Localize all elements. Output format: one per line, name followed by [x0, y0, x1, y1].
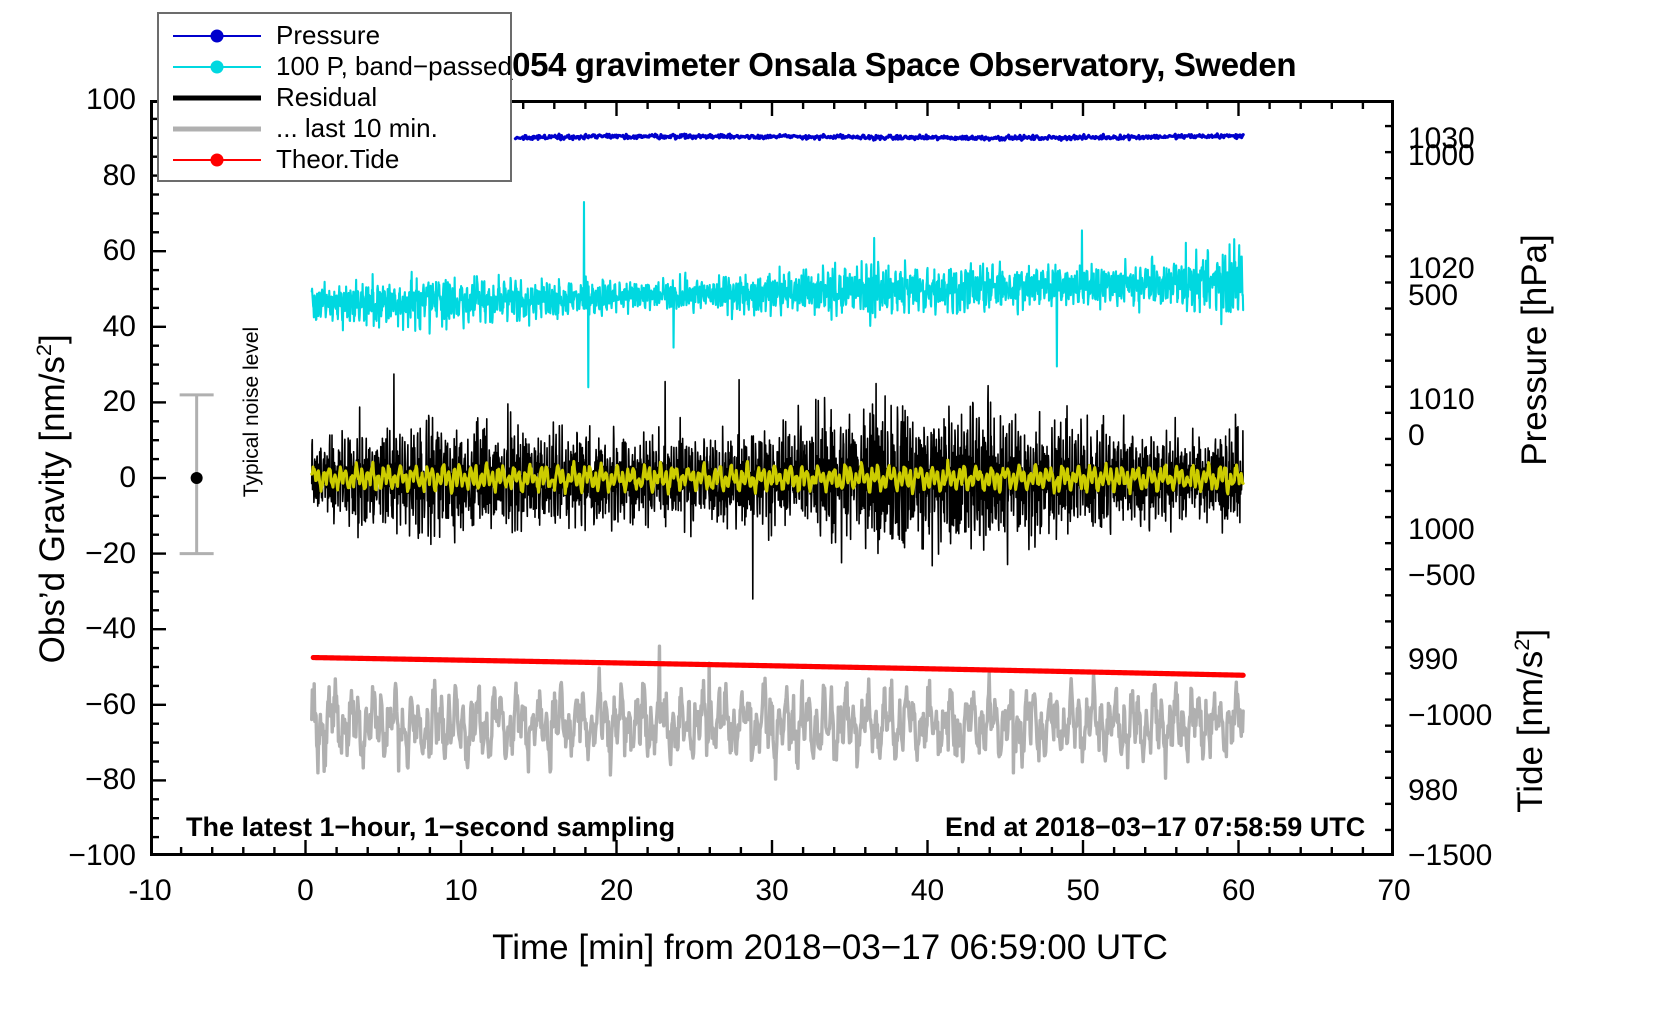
legend: Pressure100 P, band−passedResidual... la…	[157, 12, 512, 182]
y-tick-left-8: −60	[85, 690, 136, 720]
y-tick-left-3: 40	[103, 312, 136, 342]
y-tick-tide-0: 1000	[1408, 141, 1475, 171]
y-axis-left-title: Obs’d Gravity [nm/s2]	[31, 219, 73, 779]
legend-label-3: ... last 10 min.	[261, 113, 438, 144]
legend-line-icon	[173, 95, 261, 100]
y-tick-left-0: 100	[86, 85, 136, 115]
x-tick-5: 40	[911, 876, 944, 906]
legend-swatch-3	[173, 119, 261, 139]
y-tick-left-9: −80	[85, 765, 136, 795]
legend-marker-dot-icon	[211, 60, 224, 73]
y-tick-pressure-3: 1000	[1408, 515, 1475, 545]
y-axis-left-title-sup: 2	[31, 344, 56, 356]
legend-item-0[interactable]: Pressure	[159, 20, 510, 51]
x-axis-labels: -10010203040506070	[0, 876, 1660, 926]
legend-swatch-4	[173, 150, 261, 170]
y-axis-tide-title: Tide [nm/s2]	[1509, 521, 1551, 921]
y-tick-tide-3: −500	[1408, 561, 1476, 591]
noise-level-caption: Typical noise level	[240, 312, 264, 512]
series-pressure	[515, 134, 1243, 140]
y-tick-pressure-2: 1010	[1408, 385, 1475, 415]
y-tick-left-7: −40	[85, 614, 136, 644]
x-tick-6: 50	[1066, 876, 1099, 906]
legend-label-1: 100 P, band−passed	[261, 51, 512, 82]
note-sampling: The latest 1−hour, 1−second sampling	[186, 812, 675, 843]
y-tick-left-5: 0	[119, 463, 136, 493]
legend-swatch-2	[173, 88, 261, 108]
noise-bar-center-dot	[191, 472, 203, 484]
legend-label-2: Residual	[261, 82, 377, 113]
legend-item-4[interactable]: Theor.Tide	[159, 144, 510, 175]
legend-item-1[interactable]: 100 P, band−passed	[159, 51, 510, 82]
y-tick-left-2: 60	[103, 236, 136, 266]
y-axis-tide-title-tail: ]	[1511, 629, 1550, 639]
y-tick-pressure-4: 990	[1408, 645, 1458, 675]
legend-marker-dot-icon	[211, 153, 224, 166]
legend-item-2[interactable]: Residual	[159, 82, 510, 113]
legend-label-4: Theor.Tide	[261, 144, 399, 175]
y-tick-tide-5: −1500	[1408, 841, 1492, 871]
series-bandpassed	[312, 202, 1243, 387]
legend-label-0: Pressure	[261, 20, 380, 51]
plot-canvas	[150, 100, 1394, 856]
y-axis-left-title-tail: ]	[33, 334, 72, 344]
legend-marker-dot-icon	[211, 29, 224, 42]
y-axis-left-title-text: Obs’d Gravity [nm/s	[33, 356, 72, 663]
y-axis-tide-title-text: Tide [nm/s	[1511, 651, 1550, 813]
gravimeter-figure: SCG_054 gravimeter Onsala Space Observat…	[0, 0, 1660, 1020]
y-tick-left-10: −100	[68, 841, 136, 871]
note-end-time: End at 2018−03−17 07:58:59 UTC	[945, 812, 1365, 843]
x-tick-2: 10	[444, 876, 477, 906]
y-tick-tide-4: −1000	[1408, 701, 1492, 731]
x-tick-0: -10	[128, 876, 171, 906]
y-tick-left-4: 20	[103, 387, 136, 417]
y-axis-tide-title-sup: 2	[1509, 639, 1534, 651]
y-axis-pressure-title: Pressure [hPa]	[1515, 115, 1555, 585]
x-axis-title: Time [min] from 2018−03−17 06:59:00 UTC	[0, 928, 1660, 968]
x-tick-7: 60	[1222, 876, 1255, 906]
y-tick-tide-1: 500	[1408, 281, 1458, 311]
y-tick-pressure-5: 980	[1408, 776, 1458, 806]
legend-item-3[interactable]: ... last 10 min.	[159, 113, 510, 144]
legend-swatch-0	[173, 26, 261, 46]
series-theoretical-tide	[313, 658, 1243, 676]
y-tick-left-6: −20	[85, 539, 136, 569]
x-tick-4: 30	[755, 876, 788, 906]
legend-line-icon	[173, 126, 261, 131]
y-tick-left-1: 80	[103, 161, 136, 191]
legend-swatch-1	[173, 57, 261, 77]
x-tick-1: 0	[297, 876, 314, 906]
y-tick-tide-2: 0	[1408, 421, 1425, 451]
x-tick-3: 20	[600, 876, 633, 906]
x-tick-8: 70	[1377, 876, 1410, 906]
